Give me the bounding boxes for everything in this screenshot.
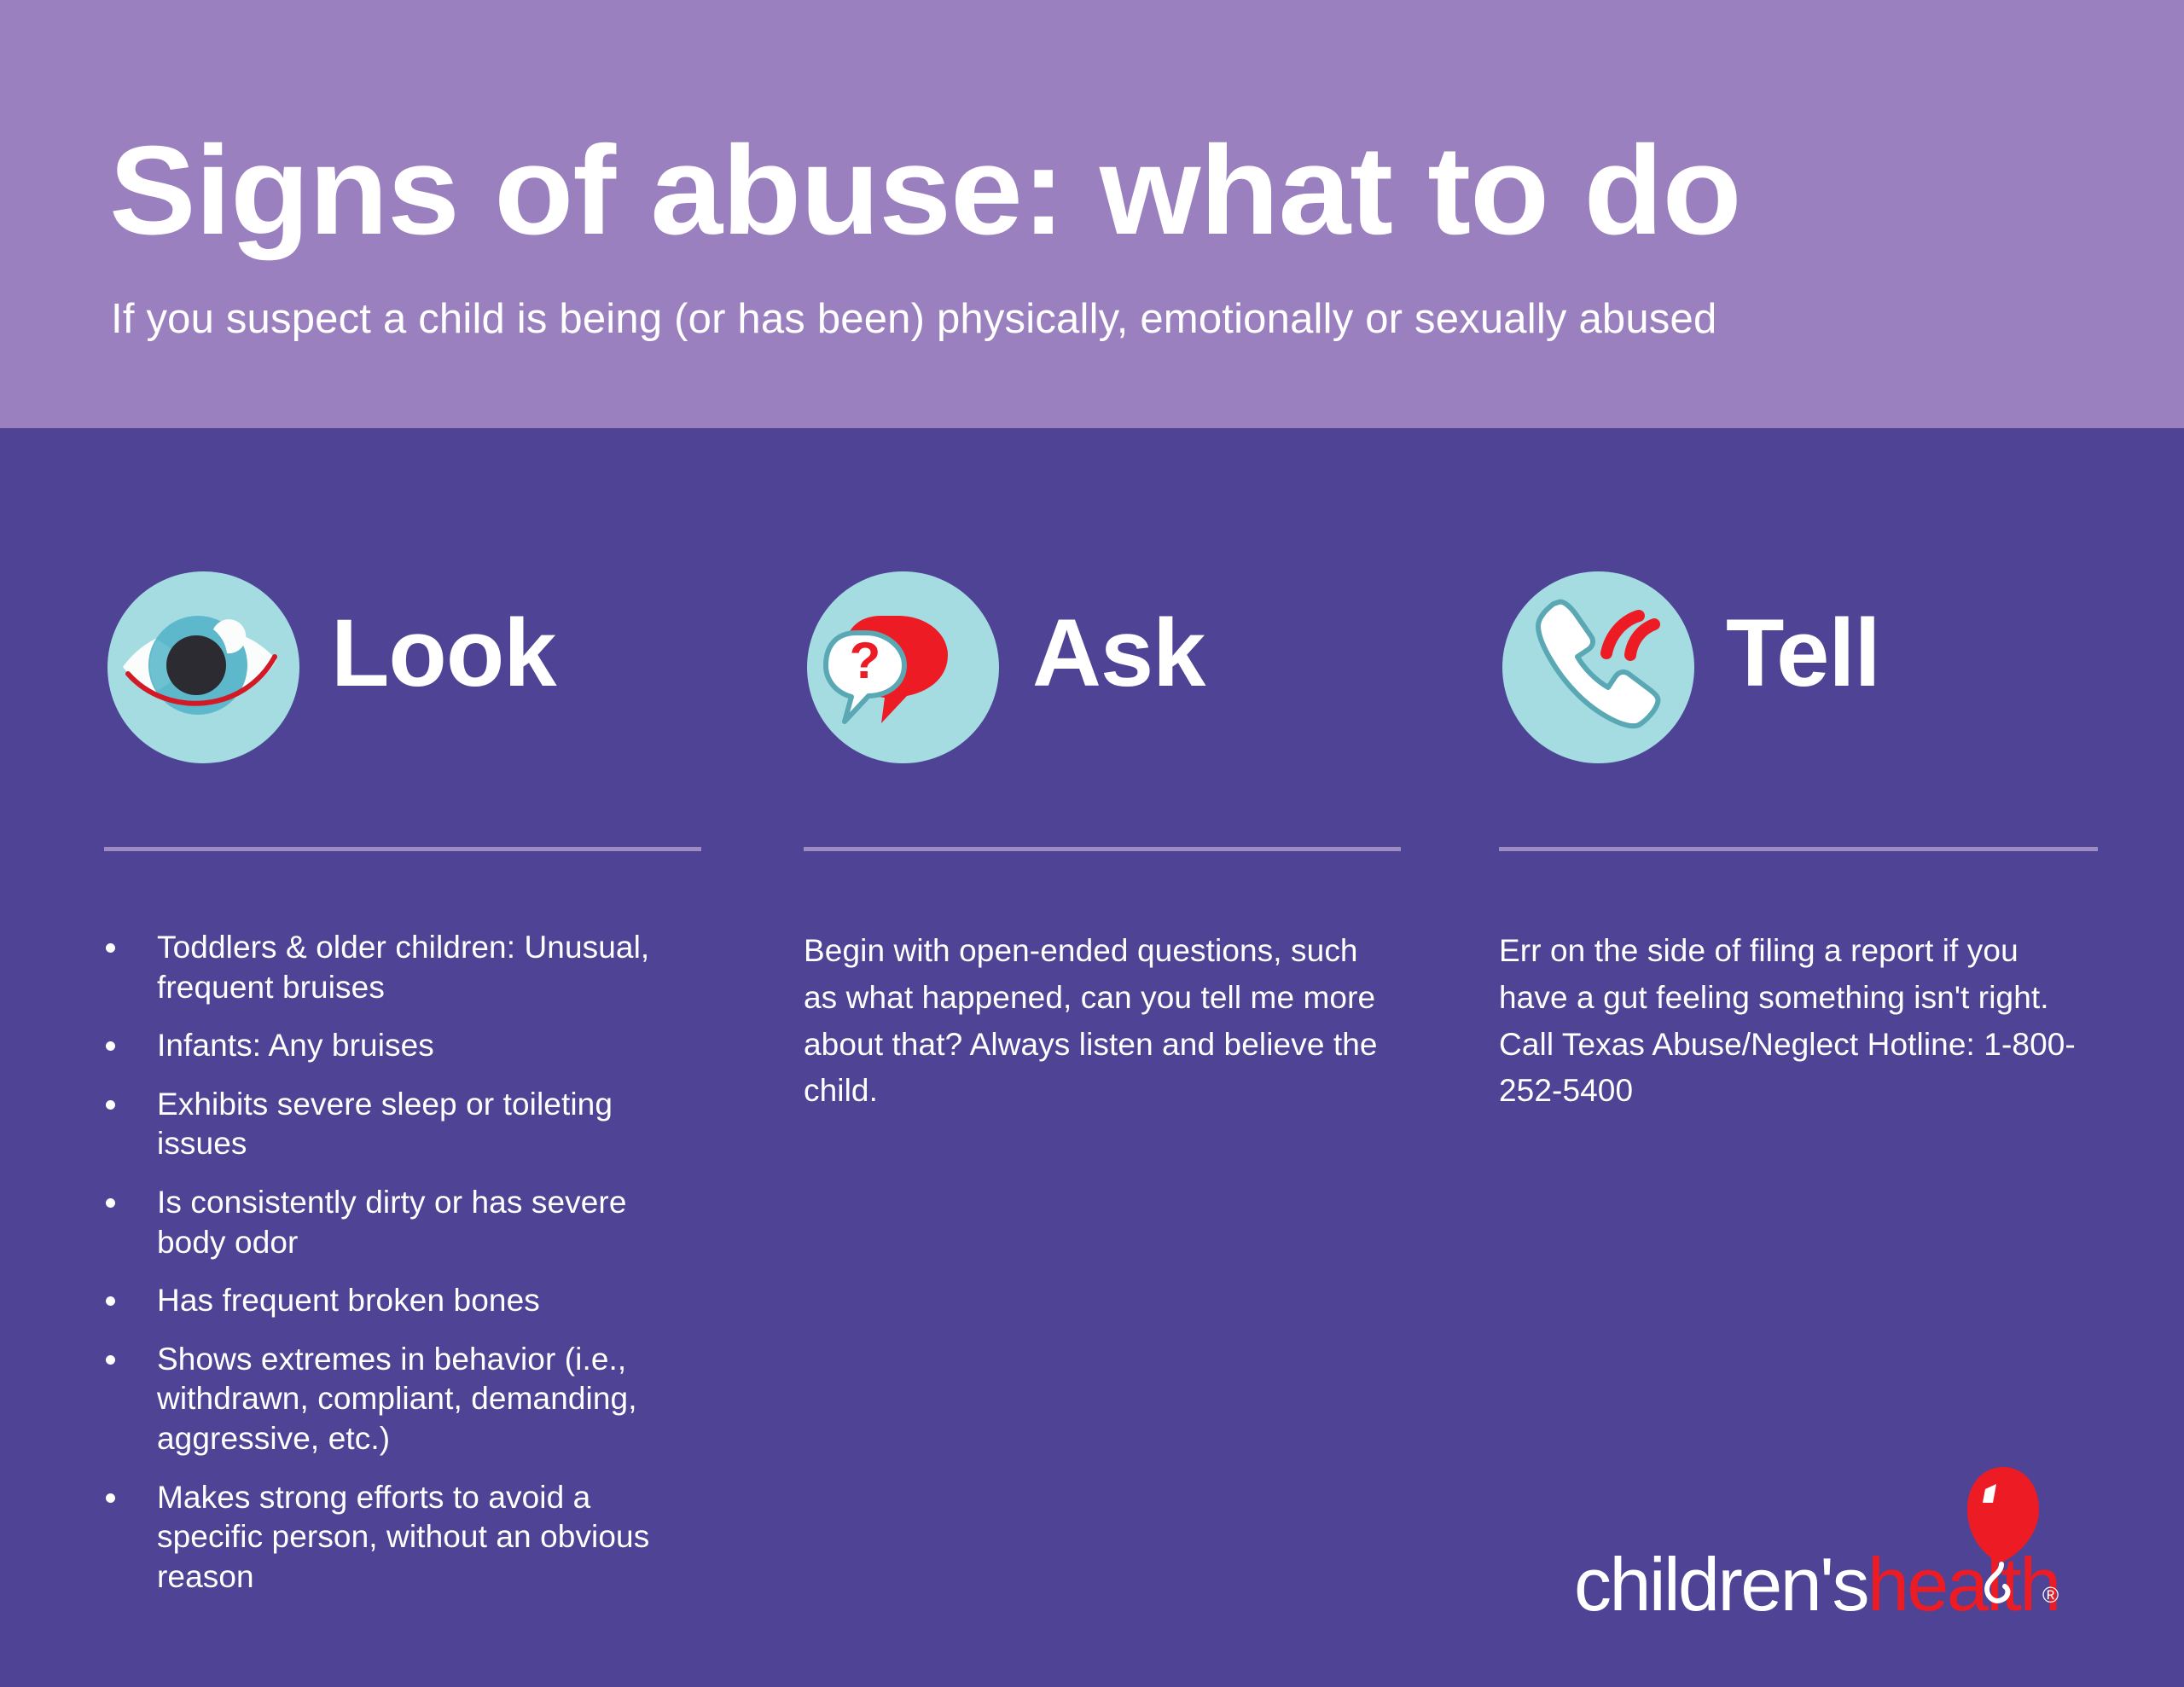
list-item-text: Makes strong efforts to avoid a specific… (157, 1480, 649, 1594)
list-item-text: Infants: Any bruises (157, 1028, 434, 1063)
column-look-body: Toddlers & older children: Unusual, freq… (104, 928, 693, 1616)
column-look: Look Toddlers & older children: Unusual,… (102, 563, 700, 776)
speech-bubbles-question-icon: ? (807, 571, 999, 763)
column-look-header: Look (102, 563, 700, 776)
column-ask-header: ? Ask (802, 563, 1399, 776)
column-look-title: Look (331, 606, 556, 701)
balloon-icon (1923, 1465, 2059, 1623)
list-item: Makes strong efforts to avoid a specific… (104, 1478, 693, 1597)
eye-icon-svg (107, 571, 299, 763)
bullet-dot-icon (106, 943, 115, 953)
column-tell-header: Tell (1497, 563, 2099, 776)
list-item-text: Shows extremes in behavior (i.e., withdr… (157, 1342, 637, 1456)
registered-trademark-icon: ® (2042, 1582, 2059, 1609)
column-tell-body: Err on the side of filing a report if yo… (1499, 928, 2096, 1115)
page-title: Signs of abuse: what to do (109, 128, 1741, 254)
column-tell: Tell Err on the side of filing a report … (1497, 563, 2099, 776)
list-item-text: Toddlers & older children: Unusual, freq… (157, 930, 649, 1005)
list-item-text: Is consistently dirty or has severe body… (157, 1185, 627, 1260)
speech-bubbles-question-icon-svg: ? (807, 571, 999, 763)
logo-word-childrens: children's (1574, 1542, 1867, 1626)
bullet-dot-icon (106, 1493, 115, 1503)
tell-paragraph: Err on the side of filing a report if yo… (1499, 928, 2079, 1115)
ask-paragraph: Begin with open-ended questions, such as… (804, 928, 1384, 1115)
bullet-dot-icon (106, 1041, 115, 1051)
bullet-dot-icon (106, 1100, 115, 1110)
bullet-dot-icon (106, 1198, 115, 1208)
svg-text:?: ? (850, 632, 881, 689)
eye-icon (107, 571, 299, 763)
list-item: Infants: Any bruises (104, 1026, 693, 1066)
list-item: Shows extremes in behavior (i.e., withdr… (104, 1340, 693, 1459)
column-tell-divider (1499, 847, 2098, 851)
phone-ringing-icon-svg (1502, 571, 1694, 763)
column-ask: ? Ask Begin with open-ended questions, s… (802, 563, 1399, 776)
brand-logo: children'shealth ® (1574, 1465, 2086, 1627)
bullet-dot-icon (106, 1296, 115, 1306)
look-bullet-list: Toddlers & older children: Unusual, freq… (104, 928, 693, 1597)
list-item: Toddlers & older children: Unusual, freq… (104, 928, 693, 1007)
bullet-dot-icon (106, 1355, 115, 1365)
header-band: Signs of abuse: what to do If you suspec… (0, 0, 2184, 428)
phone-ringing-icon (1502, 571, 1694, 763)
column-ask-title: Ask (1032, 606, 1205, 701)
column-ask-body: Begin with open-ended questions, such as… (804, 928, 1392, 1115)
list-item: Exhibits severe sleep or toileting issue… (104, 1085, 693, 1164)
column-look-divider (104, 847, 701, 851)
column-ask-divider (804, 847, 1401, 851)
list-item-text: Exhibits severe sleep or toileting issue… (157, 1087, 613, 1162)
page-subtitle: If you suspect a child is being (or has … (111, 299, 1716, 340)
column-tell-title: Tell (1726, 606, 1880, 701)
list-item-text: Has frequent broken bones (157, 1283, 540, 1318)
list-item: Has frequent broken bones (104, 1281, 693, 1321)
list-item: Is consistently dirty or has severe body… (104, 1183, 693, 1262)
